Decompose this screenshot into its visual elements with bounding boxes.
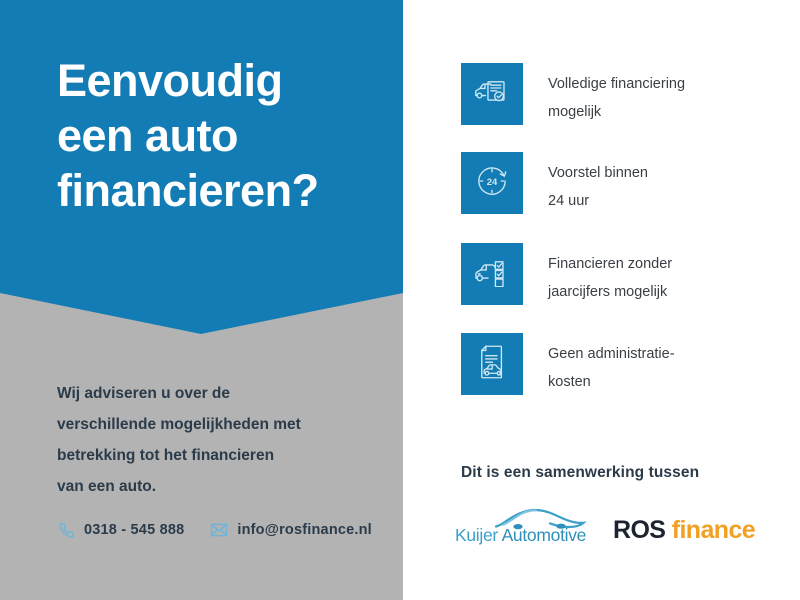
feature-item-no-admin-costs: Geen administratie- kosten: [461, 333, 786, 397]
feature-icon-box: [461, 333, 523, 395]
feature-line-1: Financieren zonder: [548, 250, 786, 278]
feature-line-2: jaarcijfers mogelijk: [548, 278, 786, 306]
body-copy-line-1: Wij adviseren u over de: [57, 378, 387, 409]
left-panel: Eenvoudig een auto financieren? Wij advi…: [0, 0, 403, 600]
partner-logos: Kuijer Automotive ROS finance: [455, 505, 755, 549]
body-copy: Wij adviseren u over de verschillende mo…: [57, 378, 387, 502]
feature-label: Financieren zonder jaarcijfers mogelijk: [548, 243, 786, 307]
feature-item-full-financing: Volledige financiering mogelijk: [461, 63, 786, 127]
feature-icon-box: 24: [461, 152, 523, 214]
feature-line-1: Voorstel binnen: [548, 159, 786, 187]
feature-line-2: mogelijk: [548, 98, 786, 126]
phone-number: 0318 - 545 888: [84, 522, 184, 538]
car-checklist-icon: [474, 256, 510, 292]
page-title: Eenvoudig een auto financieren?: [57, 54, 397, 219]
document-car-icon: [477, 344, 508, 385]
feature-icon-box: [461, 63, 523, 125]
headline-line-1: Eenvoudig: [57, 54, 397, 109]
feature-line-2: 24 uur: [548, 187, 786, 215]
feature-label: Voorstel binnen 24 uur: [548, 152, 786, 216]
body-copy-line-2: verschillende mogelijkheden met: [57, 409, 387, 440]
feature-label: Geen administratie- kosten: [548, 333, 786, 397]
ros-finance-logo[interactable]: ROS finance: [613, 516, 755, 549]
contact-email[interactable]: info@rosfinance.nl: [210, 521, 372, 539]
headline-line-2: een auto: [57, 109, 397, 164]
headline-line-3: financieren?: [57, 164, 397, 219]
feature-line-2: kosten: [548, 368, 786, 396]
right-panel: Volledige financiering mogelijk 24 Voors…: [403, 0, 800, 600]
partnership-title: Dit is een samenwerking tussen: [461, 464, 699, 482]
kuijer-automotive-logo[interactable]: Kuijer Automotive: [455, 505, 595, 549]
24-hour-clock-icon: 24: [474, 163, 510, 204]
contact-phone[interactable]: 0318 - 545 888: [57, 521, 184, 539]
feature-line-1: Geen administratie-: [548, 340, 786, 368]
clock-badge-24: 24: [487, 176, 498, 187]
contact-row: 0318 - 545 888 info@rosfinance.nl: [57, 521, 398, 539]
phone-icon: [57, 521, 75, 539]
envelope-icon: [210, 521, 228, 539]
kuijer-word: Kuijer: [455, 525, 498, 545]
finance-word: finance: [672, 516, 755, 544]
automotive-word: Automotive: [502, 525, 587, 545]
feature-line-1: Volledige financiering: [548, 70, 786, 98]
email-address: info@rosfinance.nl: [237, 522, 372, 538]
feature-item-24h-proposal: 24 Voorstel binnen 24 uur: [461, 152, 786, 216]
car-document-check-icon: [474, 77, 510, 111]
body-copy-line-3: betrekking tot het financieren: [57, 440, 387, 471]
feature-item-no-annual-figures: Financieren zonder jaarcijfers mogelijk: [461, 243, 786, 307]
ros-word: ROS: [613, 516, 665, 544]
poster-root: Eenvoudig een auto financieren? Wij advi…: [0, 0, 800, 600]
body-copy-line-4: van een auto.: [57, 471, 387, 502]
feature-label: Volledige financiering mogelijk: [548, 63, 786, 127]
kuijer-automotive-wordmark: Kuijer Automotive: [455, 525, 586, 546]
feature-icon-box: [461, 243, 523, 305]
